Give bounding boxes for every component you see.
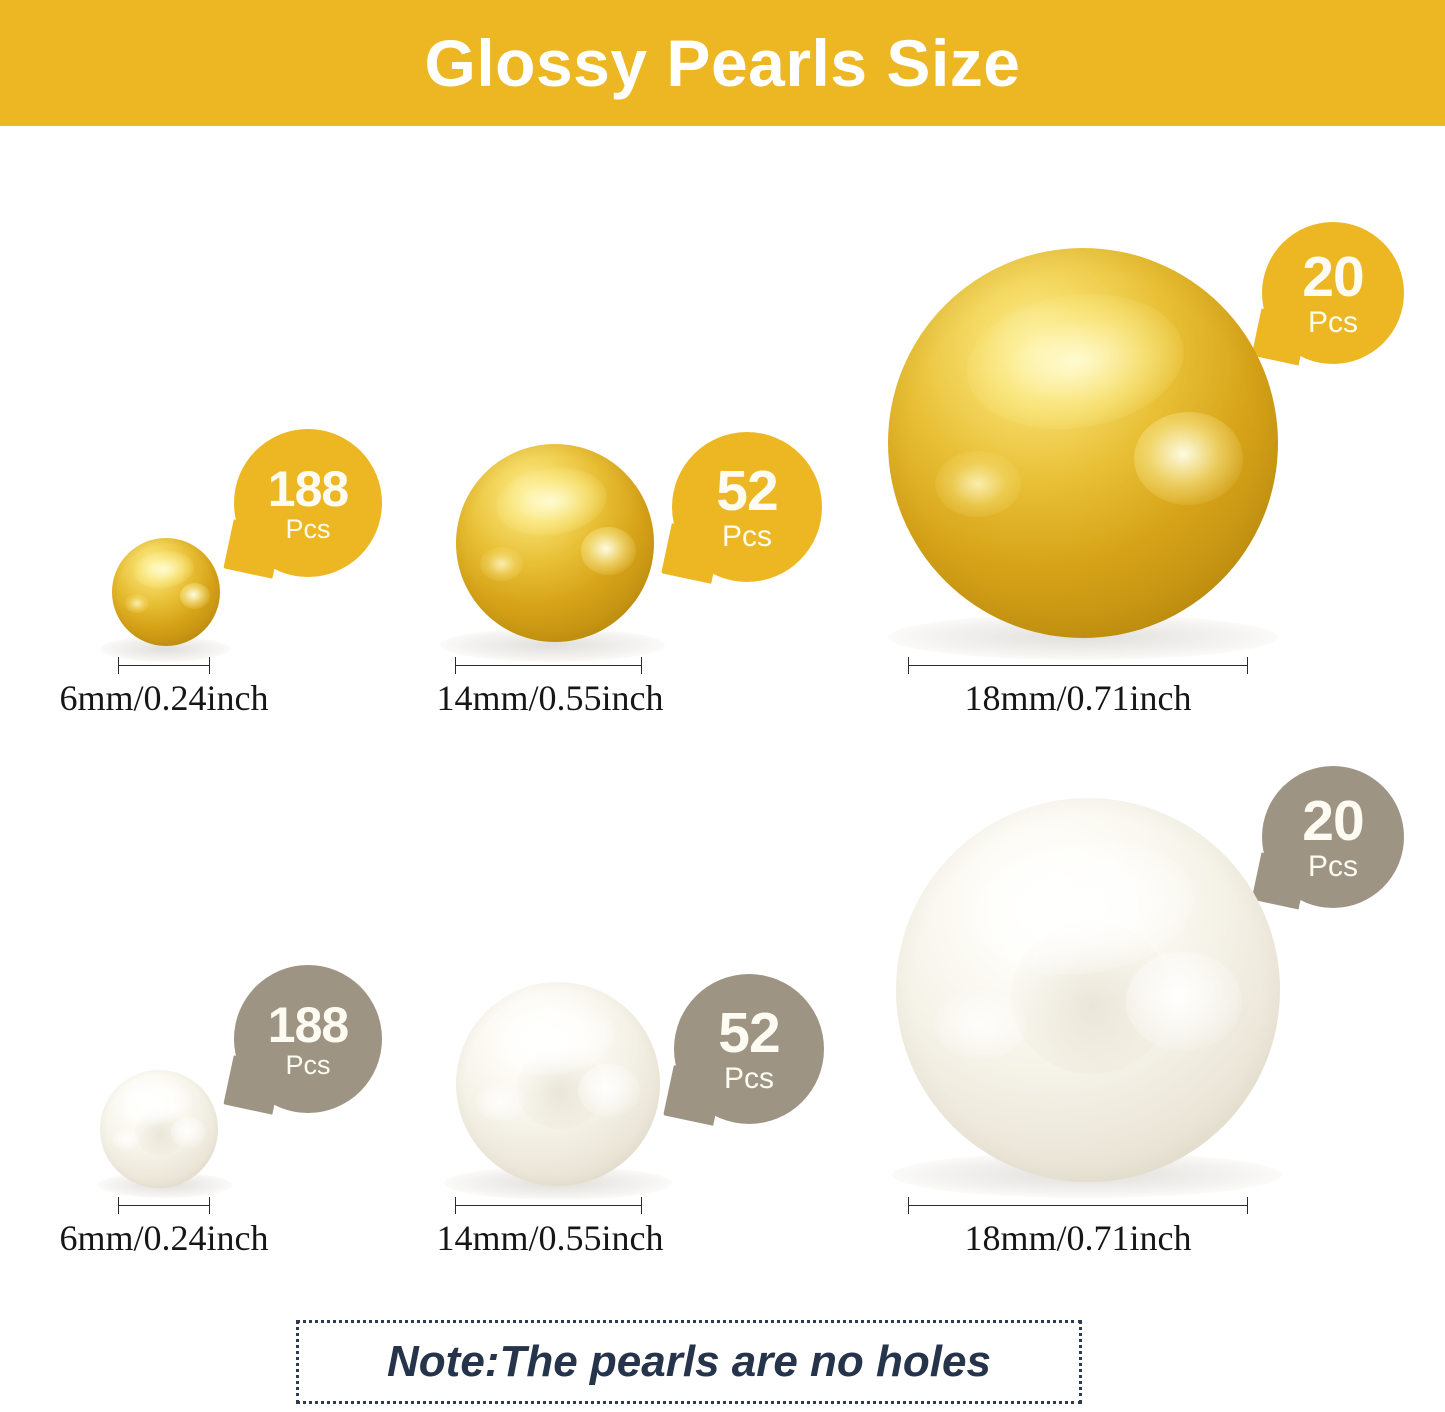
pearl-white-14mm <box>456 982 660 1186</box>
size-label-white-6mm: 6mm/0.24inch <box>48 1217 280 1259</box>
badge-gold-14mm: 52 Pcs <box>672 432 822 582</box>
badge-count: 188 <box>268 1000 348 1050</box>
measure-bar-white-18mm <box>908 1205 1248 1206</box>
badge-count: 52 <box>716 463 777 520</box>
measure-bar-white-6mm <box>118 1205 210 1206</box>
pearl-gold-6mm <box>112 538 220 646</box>
size-label-gold-14mm: 14mm/0.55inch <box>432 677 668 719</box>
badge-count: 20 <box>1302 793 1363 850</box>
badge-white-18mm: 20 Pcs <box>1262 766 1404 908</box>
measure-bar-gold-6mm <box>118 665 210 666</box>
badge-white-14mm: 52 Pcs <box>674 974 824 1124</box>
infographic-stage: 188 Pcs 6mm/0.24inch 52 Pcs 14mm/0.55inc… <box>0 0 1445 1412</box>
badge-gold-18mm: 20 Pcs <box>1262 222 1404 364</box>
size-label-gold-6mm: 6mm/0.24inch <box>48 677 280 719</box>
badge-gold-6mm: 188 Pcs <box>234 429 382 577</box>
badge-count: 20 <box>1302 249 1363 306</box>
pearl-white-6mm <box>100 1070 218 1188</box>
badge-count: 52 <box>718 1005 779 1062</box>
measure-bar-gold-14mm <box>455 665 642 666</box>
note-box: Note:The pearls are no holes <box>296 1320 1082 1404</box>
size-label-white-14mm: 14mm/0.55inch <box>432 1217 668 1259</box>
badge-unit: Pcs <box>722 522 772 552</box>
badge-unit: Pcs <box>1308 308 1358 338</box>
measure-bar-gold-18mm <box>908 665 1248 666</box>
size-label-gold-18mm: 18mm/0.71inch <box>958 677 1198 719</box>
pearl-gold-14mm <box>456 444 654 642</box>
pearl-gold-18mm <box>888 248 1278 638</box>
pearl-white-18mm <box>896 798 1280 1182</box>
badge-unit: Pcs <box>285 516 330 543</box>
badge-unit: Pcs <box>285 1052 330 1079</box>
badge-unit: Pcs <box>1308 852 1358 882</box>
badge-unit: Pcs <box>724 1064 774 1094</box>
note-text: Note:The pearls are no holes <box>387 1337 991 1387</box>
badge-count: 188 <box>268 464 348 514</box>
size-label-white-18mm: 18mm/0.71inch <box>958 1217 1198 1259</box>
measure-bar-white-14mm <box>455 1205 642 1206</box>
badge-white-6mm: 188 Pcs <box>234 965 382 1113</box>
